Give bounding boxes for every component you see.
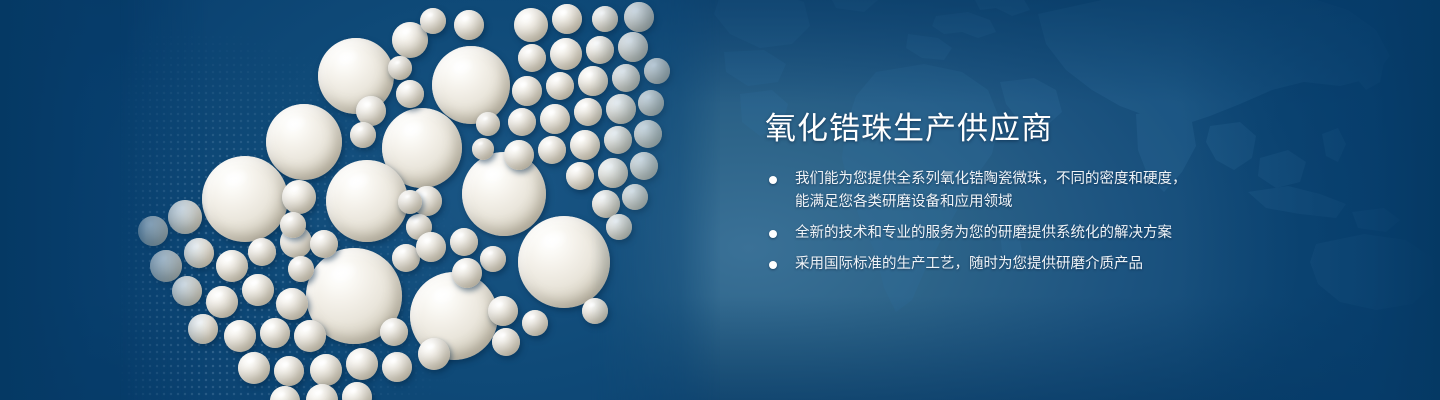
bead <box>270 386 300 400</box>
bead <box>184 238 214 268</box>
bead <box>566 162 594 190</box>
bead <box>634 120 662 148</box>
bead <box>280 212 306 238</box>
bead <box>266 104 342 180</box>
bullet-dot-icon <box>769 176 777 184</box>
bead <box>242 274 274 306</box>
bead <box>508 108 536 136</box>
bead <box>346 348 378 380</box>
bead <box>396 80 424 108</box>
bead <box>504 140 534 170</box>
bead <box>172 276 202 306</box>
bead <box>570 130 600 160</box>
bead <box>350 122 376 148</box>
list-item: 我们能为您提供全系列氧化锆陶瓷微珠，不同的密度和硬度， 能满足您各类研磨设备和应… <box>765 168 1235 214</box>
bead <box>488 296 518 326</box>
bead <box>630 152 658 180</box>
bead <box>288 256 314 282</box>
feature-list: 我们能为您提供全系列氧化锆陶瓷微珠，不同的密度和硬度， 能满足您各类研磨设备和应… <box>765 168 1235 276</box>
bead <box>326 160 408 242</box>
bead <box>598 158 628 188</box>
bead <box>480 246 506 272</box>
bead <box>578 66 608 96</box>
bead <box>216 250 248 282</box>
bead <box>606 214 632 240</box>
hero-banner: 氧化锆珠生产供应商 我们能为您提供全系列氧化锆陶瓷微珠，不同的密度和硬度， 能满… <box>0 0 1440 400</box>
bead <box>612 64 640 92</box>
bead <box>452 258 482 288</box>
bullet-dot-icon <box>769 261 777 269</box>
list-item-line: 我们能为您提供全系列氧化锆陶瓷微珠，不同的密度和硬度， <box>795 168 1235 191</box>
bullet-dot-icon <box>769 230 777 238</box>
bead <box>552 4 582 34</box>
bead <box>462 152 546 236</box>
list-item-line: 全新的技术和专业的服务为您的研磨提供系统化的解决方案 <box>795 222 1235 245</box>
bead <box>138 216 168 246</box>
bead <box>282 180 316 214</box>
bead <box>518 44 546 72</box>
bead <box>574 98 602 126</box>
bead <box>592 6 618 32</box>
bead <box>310 230 338 258</box>
bead <box>206 286 238 318</box>
bead <box>168 200 202 234</box>
bead <box>472 138 494 160</box>
bead <box>420 8 446 34</box>
bead <box>512 76 542 106</box>
bead <box>644 58 670 84</box>
bead <box>382 352 412 382</box>
bead <box>492 328 520 356</box>
bead <box>522 310 548 336</box>
bead <box>514 8 548 42</box>
bead <box>432 46 510 124</box>
bead-cluster <box>120 0 720 400</box>
bead <box>310 354 342 386</box>
bead <box>518 216 610 308</box>
bead <box>586 36 614 64</box>
bead <box>540 104 570 134</box>
bead <box>476 112 500 136</box>
bead <box>582 298 608 324</box>
bead <box>618 32 648 62</box>
bead <box>380 318 408 346</box>
bead <box>416 232 446 262</box>
bead <box>202 156 288 242</box>
list-item-line: 能满足您各类研磨设备和应用领域 <box>795 191 1235 214</box>
bead <box>624 2 654 32</box>
bead <box>260 318 290 348</box>
bead <box>538 136 566 164</box>
bead <box>248 238 276 266</box>
bead <box>274 356 304 386</box>
bead <box>342 382 372 400</box>
bead <box>388 56 412 80</box>
bead <box>606 94 636 124</box>
bead <box>398 190 422 214</box>
zirconia-beads-photo <box>120 0 720 400</box>
list-item: 全新的技术和专业的服务为您的研磨提供系统化的解决方案 <box>765 222 1235 245</box>
bead <box>604 126 632 154</box>
bead <box>454 10 484 40</box>
page-title: 氧化锆珠生产供应商 <box>765 110 1053 148</box>
banner-content: 氧化锆珠生产供应商 我们能为您提供全系列氧化锆陶瓷微珠，不同的密度和硬度， 能满… <box>765 0 1405 400</box>
bead <box>622 184 648 210</box>
bead <box>418 338 450 370</box>
bead <box>546 72 574 100</box>
bead <box>638 90 664 116</box>
list-item: 采用国际标准的生产工艺，随时为您提供研磨介质产品 <box>765 253 1235 276</box>
bead <box>238 352 270 384</box>
bead <box>150 250 182 282</box>
bead <box>224 320 256 352</box>
bead <box>306 384 338 400</box>
bead <box>450 228 478 256</box>
bead <box>550 38 582 70</box>
bead <box>294 320 326 352</box>
bead <box>188 314 218 344</box>
list-item-line: 采用国际标准的生产工艺，随时为您提供研磨介质产品 <box>795 253 1235 276</box>
bead <box>276 288 308 320</box>
